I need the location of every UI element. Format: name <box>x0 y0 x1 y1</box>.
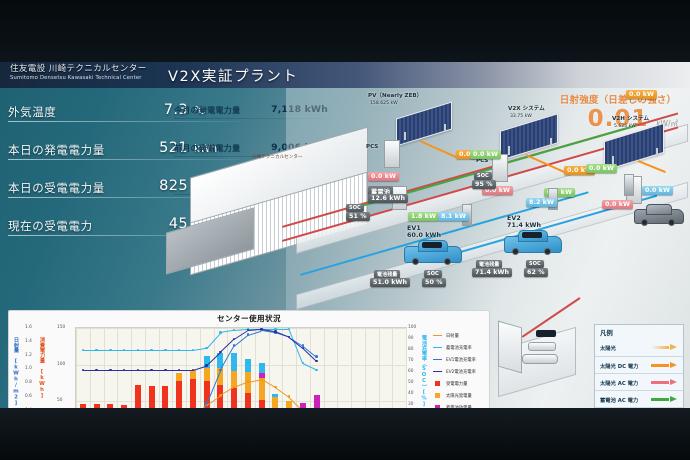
chart-gridline-v <box>296 328 297 408</box>
building-label: 川崎テクニカルセンター <box>252 154 303 160</box>
legend-row-solar-ac: 太陽光 AC 電力 <box>595 373 683 391</box>
chart-plot-area <box>75 327 407 408</box>
chart-line-point <box>205 364 208 367</box>
chart-bar <box>300 328 306 408</box>
chart-line-point <box>315 369 318 372</box>
chart-tick-label: 50 <box>408 380 413 385</box>
readout-rule <box>8 159 240 160</box>
chart-bar <box>245 328 251 408</box>
chart-legend-swatch <box>433 347 442 348</box>
chart-legend-swatch <box>433 335 442 336</box>
chart-ylabel-left-inner: 消費電力量 [kWh] <box>39 337 46 399</box>
chart-tick-label: 60 <box>408 369 413 374</box>
chart-bar-segment <box>272 397 278 408</box>
flow-pill-ev1-ac: 8.1 kW <box>438 212 469 221</box>
chart-bar <box>80 328 86 408</box>
pv-leg <box>656 148 658 157</box>
chart-gridline-v <box>255 328 256 408</box>
pcs-label-2: PCS <box>476 158 488 165</box>
chart-line-point <box>260 378 263 381</box>
chart-tick-label: 50 <box>57 398 62 403</box>
plant-diagram: 川崎テクニカルセンター PV（Nearly ZEB） 158.625 kW 0.… <box>286 88 690 334</box>
chart-legend-label: EV1電池充電率 <box>446 357 476 363</box>
chart-tick-label: 90 <box>408 336 413 341</box>
brand-name-jp: 住友電設 川崎テクニカルセンター <box>10 64 147 75</box>
chart-bar <box>355 328 361 408</box>
chart-line-segment <box>124 350 138 351</box>
ev-vehicle-2 <box>504 230 562 256</box>
chart-line-point <box>247 380 250 383</box>
title-bar: 住友電設 川崎テクニカルセンター Sumitomo Densetsu Kawas… <box>0 62 690 88</box>
flow-legend-panel: 凡例 太陽光 太陽光 DC 電力 太陽光 AC 電力 <box>594 324 684 408</box>
chart-bar <box>272 328 278 408</box>
zeh-equipment-1 <box>528 342 556 351</box>
flow-pill-pv3-ac: 0.0 kW <box>602 200 633 209</box>
sunlight-arrow-icon <box>651 344 677 351</box>
chart-ylabel-left-outer: 日射量 [kWh/m2] <box>13 337 20 407</box>
chart-tick-label: 30 <box>408 402 413 407</box>
top-letterbox <box>0 0 690 62</box>
chart-bar-segment <box>149 386 155 408</box>
flow-pill-battery-ac: 1.8 kW <box>408 212 439 221</box>
chart-title: センター使用状況 <box>9 313 489 324</box>
chart-gridline-v <box>172 328 173 408</box>
chart-tick-label: 40 <box>408 391 413 396</box>
usage-chart-card: センター使用状況 日射量 [kWh/m2] 消費電力量 [kWh] 電池充電率（… <box>8 310 490 408</box>
chart-gridline-v <box>117 328 118 408</box>
chart-bar-segment <box>259 400 265 408</box>
chart-bar-segment <box>162 386 168 408</box>
pcs-label-1: PCS <box>366 144 378 151</box>
chart-bar-segment <box>286 401 292 408</box>
dashboard-panel: 住友電設 川崎テクニカルセンター Sumitomo Densetsu Kawas… <box>0 62 690 408</box>
chart-bar <box>190 328 196 408</box>
chart-tick-label: 0.8 <box>25 380 32 385</box>
ev-wheel <box>668 219 675 226</box>
chart-tick-label: 1.0 <box>25 366 32 371</box>
ev-wheel <box>544 248 551 255</box>
brand-block: 住友電設 川崎テクニカルセンター Sumitomo Densetsu Kawas… <box>10 64 147 82</box>
chart-tick-label: 100 <box>57 362 65 367</box>
state-pill-battery-sub: 12.6 kWh <box>368 194 408 203</box>
subreadout-label: 今月の発電電力量 <box>174 105 240 116</box>
chart-legend-label: 蓄電池放電量 <box>446 405 472 408</box>
chart-bar-segment <box>314 395 320 408</box>
legend-row-battery-ac: 蓄電池 AC 電力 <box>595 390 683 408</box>
page-title: V2X実証プラント <box>168 65 298 86</box>
chart-gridline-v <box>227 328 228 408</box>
chart-bar-segment <box>272 394 278 397</box>
legend-label: 太陽光 DC 電力 <box>600 362 638 370</box>
chart-ylabel-right: 電池充電率（SOC）[%] <box>421 335 428 407</box>
chart-bar <box>259 328 265 408</box>
chart-legend-label: 受電電力量 <box>446 381 467 387</box>
legend-row-solar-dc: 太陽光 DC 電力 <box>595 356 683 374</box>
pv-leg <box>444 124 446 132</box>
pv-leg <box>508 146 510 155</box>
chart-tick-label: 1.4 <box>25 339 32 344</box>
ev-cabin <box>646 204 672 215</box>
chart-legend-swatch <box>433 371 442 372</box>
chart-gridline-v <box>392 328 393 408</box>
chart-legend-label: 太陽光発電量 <box>446 393 472 399</box>
chart-bar <box>107 328 113 408</box>
chart-line-point <box>109 349 112 352</box>
chart-tick-label: 0.6 <box>25 394 32 399</box>
chart-bar <box>149 328 155 408</box>
flow-pill-ev3-ac: 0.0 kW <box>642 186 673 195</box>
chart-gridline-v <box>406 328 407 408</box>
asset-sub-pv-nearly-zeb: 158.625 kW <box>370 100 398 107</box>
readout-rule <box>8 121 240 122</box>
legend-row-ev-ac: EV電池 AC 電力 <box>595 407 683 408</box>
chart-legend-swatch <box>435 381 440 386</box>
ev-charger-3 <box>624 174 634 196</box>
chart-tick-label: 80 <box>408 347 413 352</box>
flow-pill-pv1-ac: 0.0 kW <box>368 172 399 181</box>
pv-leg <box>404 132 406 140</box>
chart-tick-label: 0.4 <box>25 408 32 409</box>
readout-label: 現在の受電電力 <box>8 218 93 234</box>
asset-sub-v2h: 5.625 kW <box>614 123 636 130</box>
state-pill-v2x-soc: 95 % <box>472 180 496 189</box>
chart-gridline-v <box>337 328 338 408</box>
pcs-cabinet-1 <box>384 140 400 168</box>
asset-label-v2h: V2H システム <box>612 116 649 123</box>
chart-line-segment <box>179 350 193 351</box>
chart-bar-segment <box>231 353 237 371</box>
chart-bar-segment <box>231 388 237 408</box>
chart-line-segment <box>179 370 193 371</box>
chart-bar-segment <box>300 403 306 408</box>
chart-legend-label: EV2電池充電率 <box>446 369 476 375</box>
chart-bar-segment <box>135 385 141 408</box>
chart-line-point <box>274 330 277 333</box>
subreadout-label: 前月の発電電力量 <box>174 143 240 154</box>
asset-label-v2x: V2X システム <box>508 106 545 113</box>
asset-label-pv-nearly-zeb: PV（Nearly ZEB） <box>368 93 422 100</box>
chart-gridline-v <box>186 328 187 408</box>
chart-line-point <box>205 347 208 350</box>
chart-gridline-v <box>365 328 366 408</box>
chart-tick-label: 150 <box>57 325 65 330</box>
ev-vehicle-1 <box>404 240 462 266</box>
chart-bar-segment <box>190 370 196 380</box>
chart-gridline-v <box>104 328 105 408</box>
chart-gridline-v <box>90 328 91 408</box>
chart-bar <box>135 328 141 408</box>
chart-bar <box>382 328 388 408</box>
legend-label: 太陽光 <box>600 344 616 352</box>
chart-line-point <box>95 369 98 372</box>
brand-name-en: Sumitomo Densetsu Kawasaki Technical Cen… <box>10 75 147 82</box>
chart-gridline-v <box>269 328 270 408</box>
chart-line-segment <box>124 370 138 371</box>
state-pill-ev1-energy: 51.0 kWh <box>370 278 410 287</box>
chart-bar <box>121 328 127 408</box>
solar-dc-arrow-icon <box>651 362 677 369</box>
legend-label: 太陽光 AC 電力 <box>600 379 638 387</box>
chart-tick-label: 70 <box>408 358 413 363</box>
chart-tick-label: 100 <box>408 325 416 330</box>
flow-pill-pv3-dc: 0.0 kW <box>626 90 657 99</box>
chart-legend-label: 蓄電池充電率 <box>446 345 472 351</box>
chart-gridline-v <box>379 328 380 408</box>
flow-pill-bus-ac-1: 0.0 kW <box>470 150 501 159</box>
chart-gridline-v <box>282 328 283 408</box>
chart-bar-segment <box>259 363 265 373</box>
ev-vehicle-3 <box>634 204 684 228</box>
chart-bar <box>176 328 182 408</box>
zeh-equipment-2 <box>522 354 558 364</box>
chart-bar <box>369 328 375 408</box>
asset-sub-v2x: 33.75 kW <box>510 113 532 120</box>
chart-line-point <box>219 369 222 372</box>
chart-bar-segment <box>204 368 210 381</box>
state-pill-ev1-soc: 50 % <box>422 278 446 287</box>
chart-legend-swatch <box>435 393 440 398</box>
chart-bar <box>396 328 402 408</box>
chart-bar <box>94 328 100 408</box>
chart-bar-segment <box>107 404 113 408</box>
ev-wheel <box>444 258 451 265</box>
chart-bar-segment <box>245 359 251 372</box>
readout-label: 本日の受電電力量 <box>8 180 105 196</box>
legend-title: 凡例 <box>600 328 613 337</box>
asset-sub-ev2: 71.4 kWh <box>504 221 544 230</box>
chart-gridline-v <box>351 328 352 408</box>
readout-label: 本日の発電電力量 <box>8 142 105 158</box>
chart-line-point <box>247 333 250 336</box>
chart-gridline-v <box>145 328 146 408</box>
flow-pill-ev2-ac: 8.2 kW <box>526 198 557 207</box>
chart-legend-swatch <box>433 359 442 360</box>
ev-window <box>422 242 442 248</box>
ev-wheel <box>412 258 419 265</box>
chart-bar-segment <box>176 381 182 408</box>
legend-row-sunlight: 太陽光 <box>595 339 683 356</box>
state-pill-ev2-soc: 62 % <box>524 268 548 277</box>
zeh-panel <box>536 330 556 337</box>
v2x-dashboard: 住友電設 川崎テクニカルセンター Sumitomo Densetsu Kawas… <box>0 0 690 460</box>
chart-bar <box>162 328 168 408</box>
chart-legend-label: 日射量 <box>446 333 459 339</box>
ev-wheel <box>512 248 519 255</box>
chart-gridline-v <box>131 328 132 408</box>
chart-gridline-v <box>324 328 325 408</box>
chart-line-point <box>164 369 167 372</box>
chart-line-point <box>150 369 153 372</box>
asset-sub-ev1: 60.0 kWh <box>404 231 444 240</box>
bottom-letterbox <box>0 408 690 460</box>
chart-line-point <box>219 331 222 334</box>
chart-bar-segment <box>80 404 86 408</box>
solar-ac-arrow-icon <box>651 379 677 386</box>
chart-gridline-v <box>76 328 77 408</box>
state-pill-battery-soc: 51 % <box>346 212 370 221</box>
battery-ac-arrow-icon <box>651 396 677 403</box>
legend-label: 蓄電池 AC 電力 <box>600 396 638 404</box>
chart-bar-segment <box>245 393 251 408</box>
chart-line-point <box>205 402 208 405</box>
chart-line-point <box>109 369 112 372</box>
flow-pill-bus-ac-3: 0.0 kW <box>586 164 617 173</box>
chart-tick-label: 1.6 <box>25 325 32 330</box>
chart-line-point <box>315 355 318 358</box>
chart-bar <box>341 328 347 408</box>
chart-line-point <box>164 349 167 352</box>
chart-bar <box>327 328 333 408</box>
zeh-wall <box>498 321 522 374</box>
chart-line-point <box>219 394 222 397</box>
chart-gridline-v <box>159 328 160 408</box>
readout-label: 外気温度 <box>8 104 56 120</box>
chart-bar-segment <box>190 379 196 408</box>
chart-bar-segment <box>176 373 182 380</box>
chart-bar-segment <box>94 404 100 408</box>
pv-leg <box>550 138 552 147</box>
zero-energy-house: ゼロエネルギーハウス <box>492 312 588 408</box>
state-pill-ev2-energy: 71.4 kWh <box>472 268 512 277</box>
ev-wheel <box>641 219 648 226</box>
chart-legend-swatch <box>435 405 440 408</box>
chart-tick-label: 1.2 <box>25 353 32 358</box>
chart-bar-segment <box>121 405 127 408</box>
ev-window <box>522 232 542 238</box>
